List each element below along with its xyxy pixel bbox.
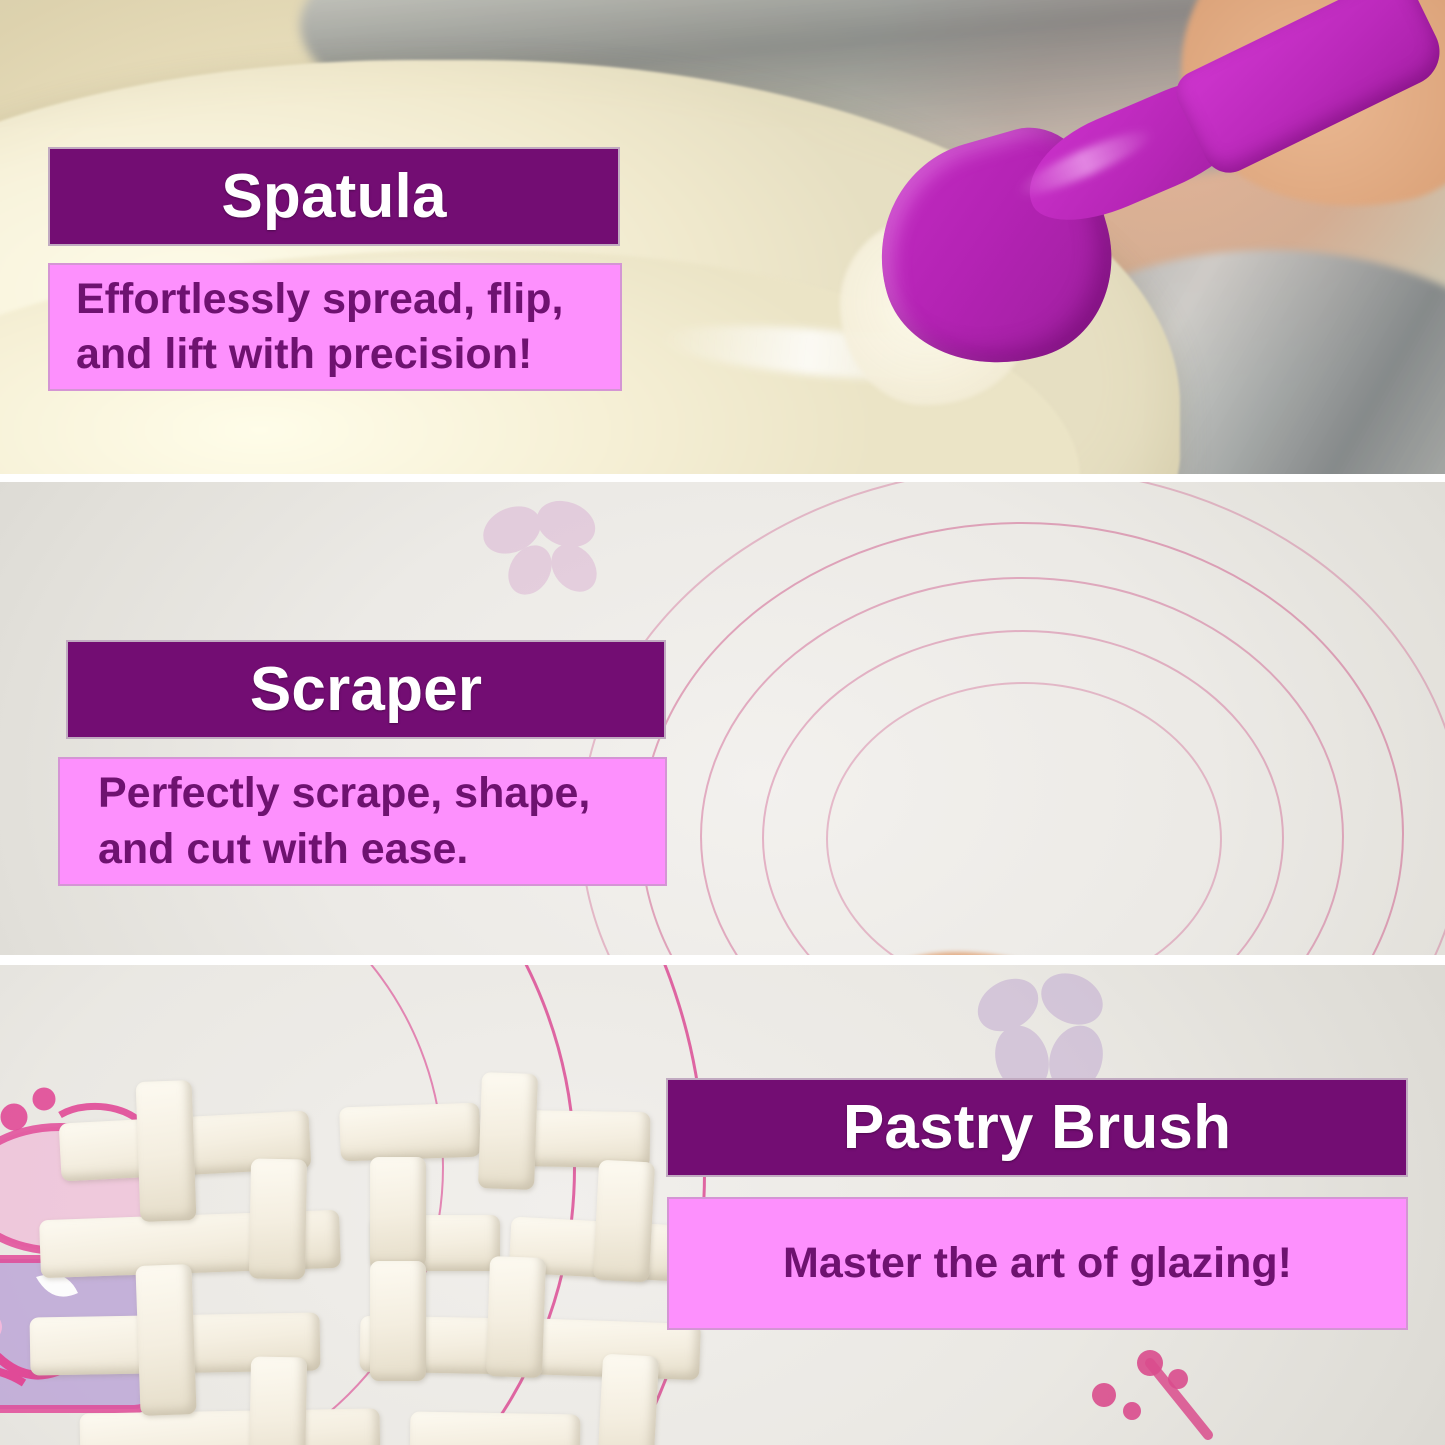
lattice-strip xyxy=(486,1256,546,1378)
panel-title-text: Pastry Brush xyxy=(843,1097,1231,1159)
panel-description-pastry-brush: Master the art of glazing! xyxy=(667,1197,1408,1330)
lattice-strip xyxy=(597,1354,659,1445)
panel-description-spatula: Effortlessly spread, flip, and lift with… xyxy=(48,263,622,391)
lattice-strip xyxy=(339,1103,481,1162)
panel-description-text: Perfectly scrape, shape, and cut with ea… xyxy=(98,766,590,876)
lattice-strip xyxy=(370,1157,426,1267)
panel-title-scraper: Scraper xyxy=(66,640,666,739)
panel-pastry-brush: Pastry Brush Master the art of glazing! xyxy=(0,965,1445,1445)
panel-title-spatula: Spatula xyxy=(48,147,620,246)
panel-description-scraper: Perfectly scrape, shape, and cut with ea… xyxy=(58,757,667,886)
lattice-strip xyxy=(249,1159,307,1280)
panel-scraper: Scraper Perfectly scrape, shape, and cut… xyxy=(0,482,1445,955)
pastry-mat-dot-decor xyxy=(1080,1325,1260,1445)
panel-title-pastry-brush: Pastry Brush xyxy=(666,1078,1408,1177)
lattice-strip xyxy=(478,1072,538,1190)
lattice-strip xyxy=(410,1412,581,1445)
panel-description-text: Master the art of glazing! xyxy=(783,1236,1292,1291)
lattice-strip xyxy=(135,1264,196,1416)
pastry-mat-purple-flower xyxy=(960,965,1130,1095)
panel-divider-1 xyxy=(0,474,1445,482)
panel-spatula: Spatula Effortlessly spread, flip, and l… xyxy=(0,0,1445,474)
lattice-strip xyxy=(80,1408,381,1445)
panel-title-text: Scraper xyxy=(250,659,482,721)
panel-divider-2 xyxy=(0,955,1445,965)
lattice-strip xyxy=(249,1357,307,1445)
lattice-strip xyxy=(370,1261,426,1381)
panel-description-text: Effortlessly spread, flip, and lift with… xyxy=(76,272,563,382)
pastry-mat-flower-decor xyxy=(470,488,620,598)
product-feature-infographic: Spatula Effortlessly spread, flip, and l… xyxy=(0,0,1445,1445)
lattice-strip xyxy=(136,1080,197,1222)
lattice-dough-pie-top xyxy=(40,1065,720,1445)
panel-title-text: Spatula xyxy=(221,166,446,228)
lattice-strip xyxy=(593,1160,655,1283)
